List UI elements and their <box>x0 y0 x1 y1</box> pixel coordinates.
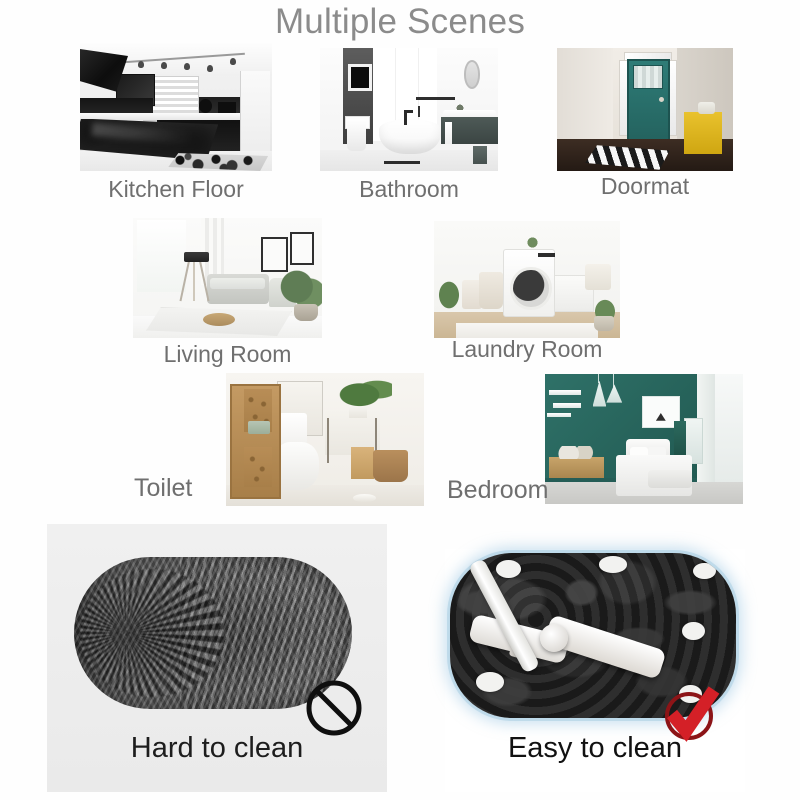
scene-label-laundry-room: Laundry Room <box>434 336 620 363</box>
toilet-photo <box>226 373 424 506</box>
scene-thumbnail-living-room <box>133 218 322 338</box>
scene-thumbnail-bathroom <box>320 48 498 171</box>
scene-label-bedroom: Bedroom <box>447 476 548 505</box>
scene-label-doormat: Doormat <box>557 173 733 200</box>
product-infographic: Multiple Scenes <box>0 0 800 800</box>
scene-label-living-room: Living Room <box>133 341 322 368</box>
bedroom-photo <box>545 374 743 504</box>
laundry-room-photo <box>434 221 620 338</box>
scene-thumbnail-doormat <box>557 48 733 171</box>
living-room-photo <box>133 218 322 338</box>
doormat-photo <box>557 48 733 171</box>
kitchen-photo <box>80 43 272 171</box>
scene-thumbnail-laundry-room <box>434 221 620 338</box>
caption-easy-to-clean: Easy to clean <box>445 732 745 765</box>
squeegee-joint <box>540 624 568 652</box>
scene-label-bathroom: Bathroom <box>320 176 498 203</box>
prohibited-icon <box>305 679 363 737</box>
scene-label-toilet: Toilet <box>134 474 192 503</box>
scene-thumbnail-kitchen-floor <box>80 43 272 171</box>
bathroom-photo <box>320 48 498 171</box>
scene-thumbnail-toilet <box>226 373 424 506</box>
scene-label-kitchen-floor: Kitchen Floor <box>80 176 272 203</box>
page-title: Multiple Scenes <box>0 2 800 42</box>
caption-hard-to-clean: Hard to clean <box>47 732 387 765</box>
scene-thumbnail-bedroom <box>545 374 743 504</box>
